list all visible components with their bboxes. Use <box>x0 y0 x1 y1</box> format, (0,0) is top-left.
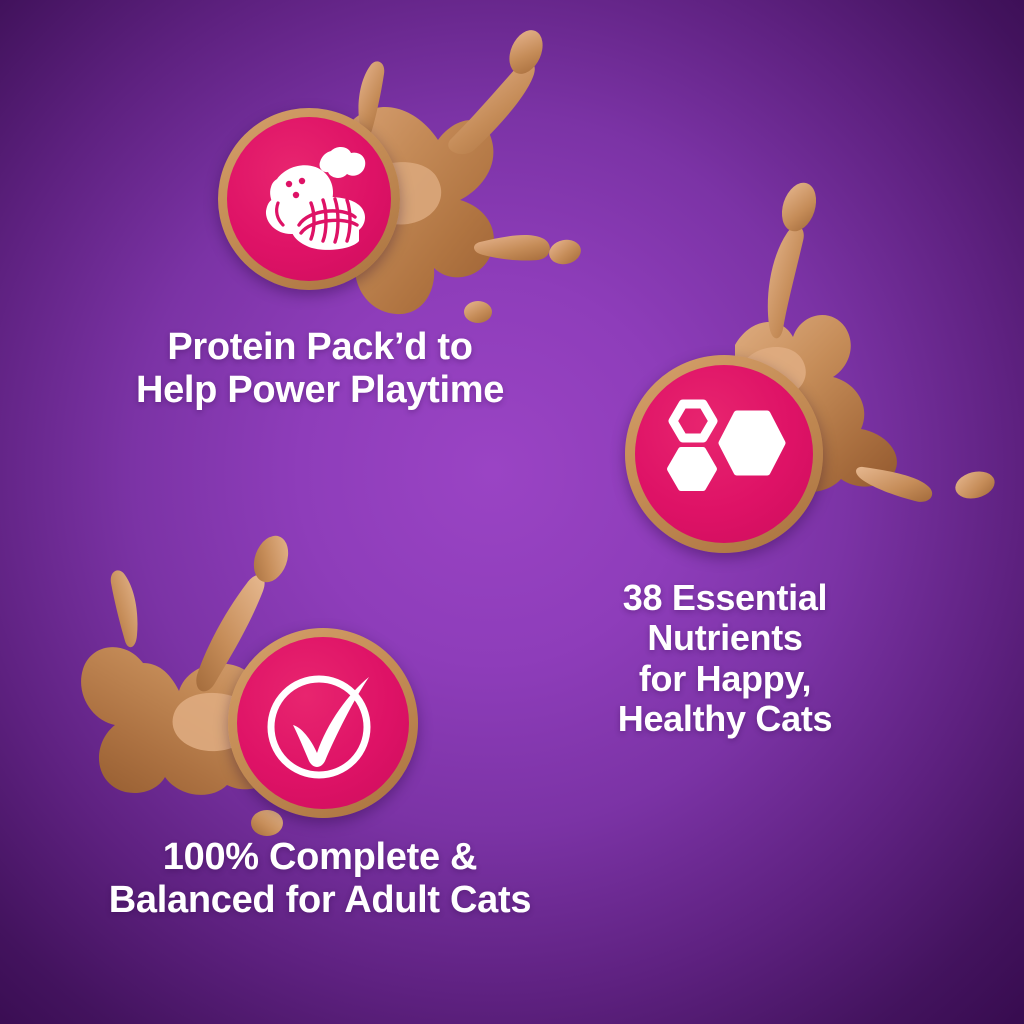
benefits-panel: Protein Pack’d to Help Power Playtime <box>0 0 1024 1024</box>
chicken-drumstick-and-meat-slice-icon <box>247 137 371 261</box>
caption-line: Nutrients <box>470 618 980 658</box>
caption-line: Healthy Cats <box>470 699 980 739</box>
caption-complete-balanced: 100% Complete & Balanced for Adult Cats <box>0 836 640 921</box>
badge-nutrients <box>625 355 823 553</box>
caption-line: 100% Complete & <box>0 836 640 879</box>
badge-protein <box>218 108 400 290</box>
checkmark-circle-icon <box>257 657 389 789</box>
caption-line: Help Power Playtime <box>0 369 640 412</box>
hexagon-nutrients-icon <box>661 398 787 510</box>
caption-line: Balanced for Adult Cats <box>0 879 640 922</box>
caption-line: Protein Pack’d to <box>0 326 640 369</box>
badge-complete-balanced <box>228 628 418 818</box>
caption-line: for Happy, <box>470 659 980 699</box>
caption-nutrients: 38 Essential Nutrients for Happy, Health… <box>470 578 980 739</box>
caption-line: 38 Essential <box>470 578 980 618</box>
caption-protein: Protein Pack’d to Help Power Playtime <box>0 326 640 411</box>
